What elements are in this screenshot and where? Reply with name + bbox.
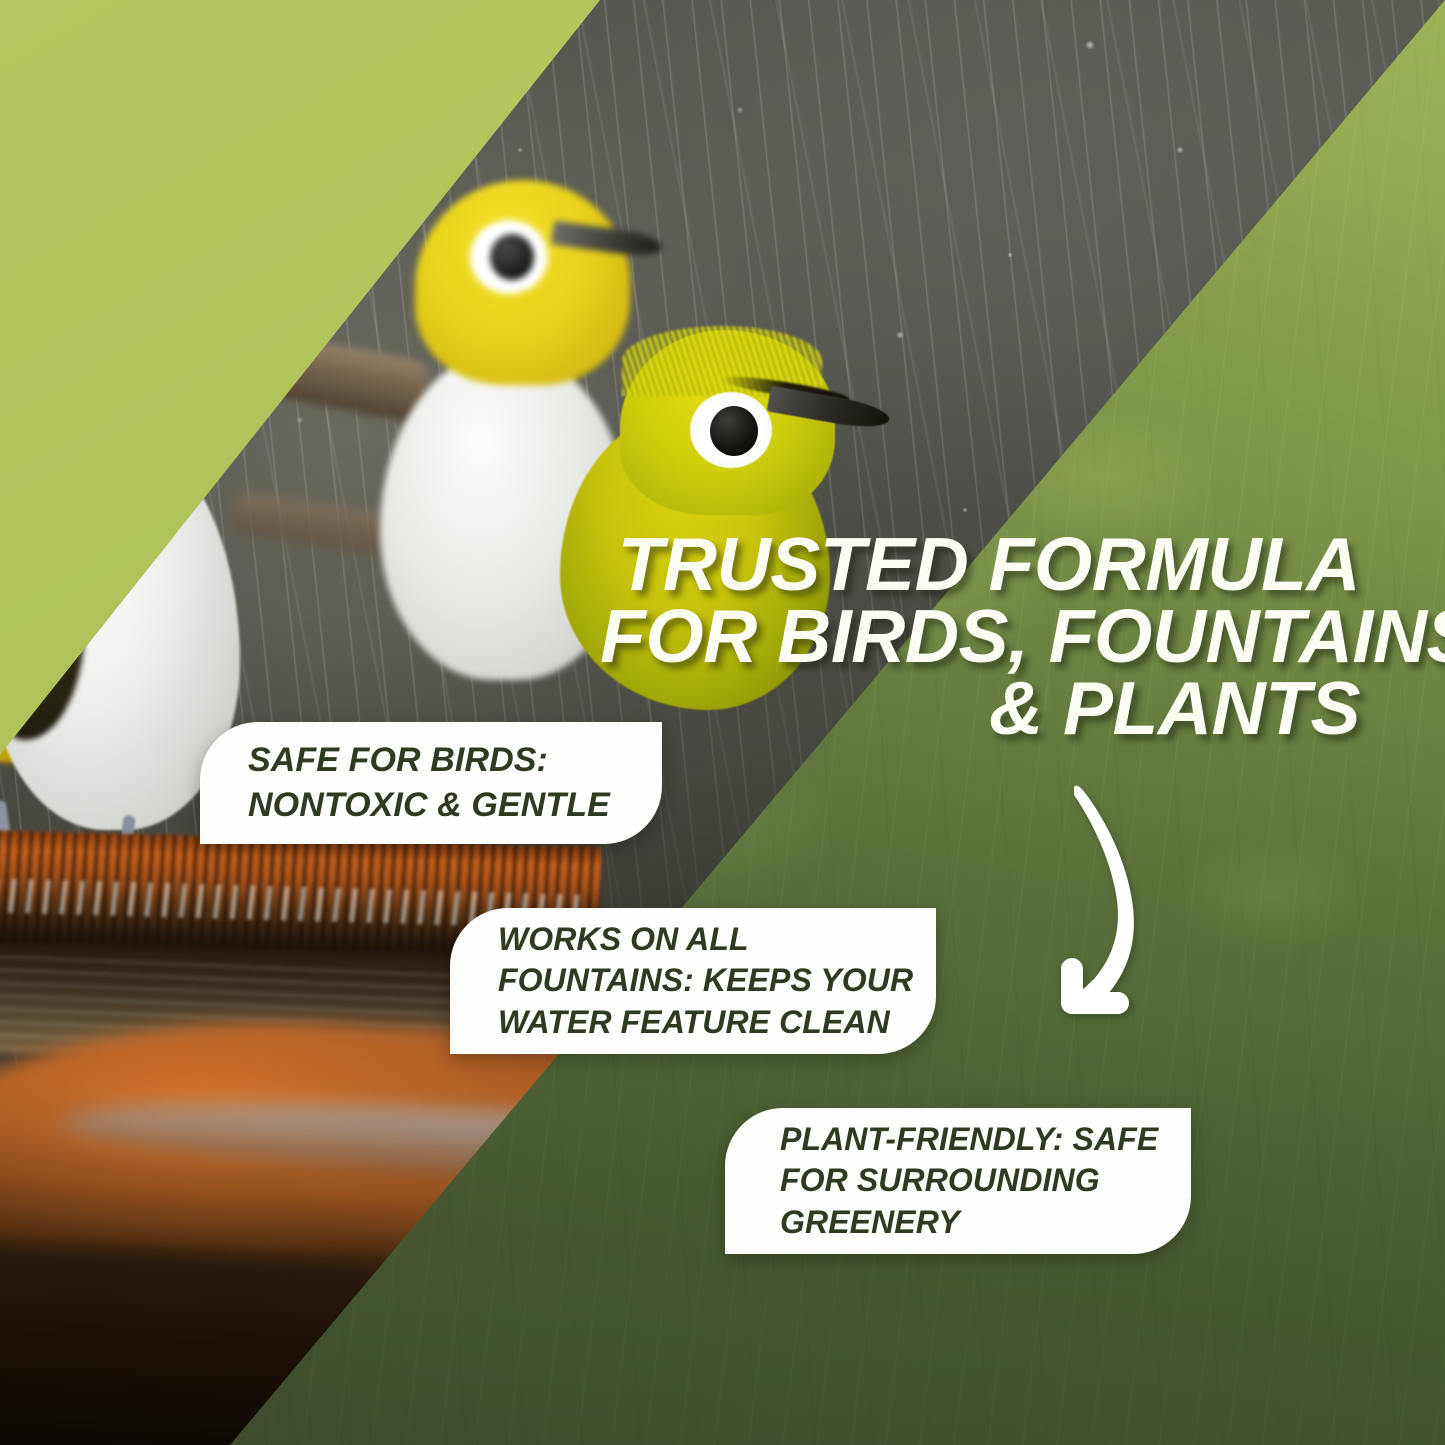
curved-down-arrow-icon bbox=[1030, 770, 1260, 1040]
callout-line: FOR SURROUNDING bbox=[780, 1160, 1158, 1202]
callout-works-on-all-fountains: WORKS ON ALL FOUNTAINS: KEEPS YOUR WATER… bbox=[450, 908, 936, 1054]
callout-text: WORKS ON ALL FOUNTAINS: KEEPS YOUR WATER… bbox=[450, 919, 913, 1044]
callout-plant-friendly: PLANT-FRIENDLY: SAFE FOR SURROUNDING GRE… bbox=[725, 1108, 1191, 1254]
headline-line-1: TRUSTED FORMULA bbox=[600, 528, 1360, 600]
callout-line: SAFE FOR BIRDS: bbox=[248, 738, 610, 783]
callout-line: NONTOXIC & GENTLE bbox=[248, 783, 610, 828]
headline-line-2: FOR BIRDS, FOUNTAINS, bbox=[600, 600, 1360, 672]
callout-line: GREENERY bbox=[780, 1202, 1158, 1244]
curved-down-arrow-container bbox=[1030, 770, 1260, 1040]
bird-pupil bbox=[490, 234, 534, 280]
page-title: TRUSTED FORMULA FOR BIRDS, FOUNTAINS, & … bbox=[600, 528, 1360, 744]
callout-line: WATER FEATURE CLEAN bbox=[498, 1002, 913, 1044]
callout-text: PLANT-FRIENDLY: SAFE FOR SURROUNDING GRE… bbox=[725, 1119, 1158, 1244]
headline-line-3: & PLANTS bbox=[600, 672, 1360, 744]
infographic-canvas: TRUSTED FORMULA FOR BIRDS, FOUNTAINS, & … bbox=[0, 0, 1445, 1445]
callout-line: FOUNTAINS: KEEPS YOUR bbox=[498, 960, 913, 1002]
bird-pupil bbox=[710, 406, 758, 456]
callout-safe-for-birds: SAFE FOR BIRDS: NONTOXIC & GENTLE bbox=[200, 722, 662, 844]
callout-line: WORKS ON ALL bbox=[498, 919, 913, 961]
callout-line: PLANT-FRIENDLY: SAFE bbox=[780, 1119, 1158, 1161]
callout-text: SAFE FOR BIRDS: NONTOXIC & GENTLE bbox=[200, 738, 610, 828]
